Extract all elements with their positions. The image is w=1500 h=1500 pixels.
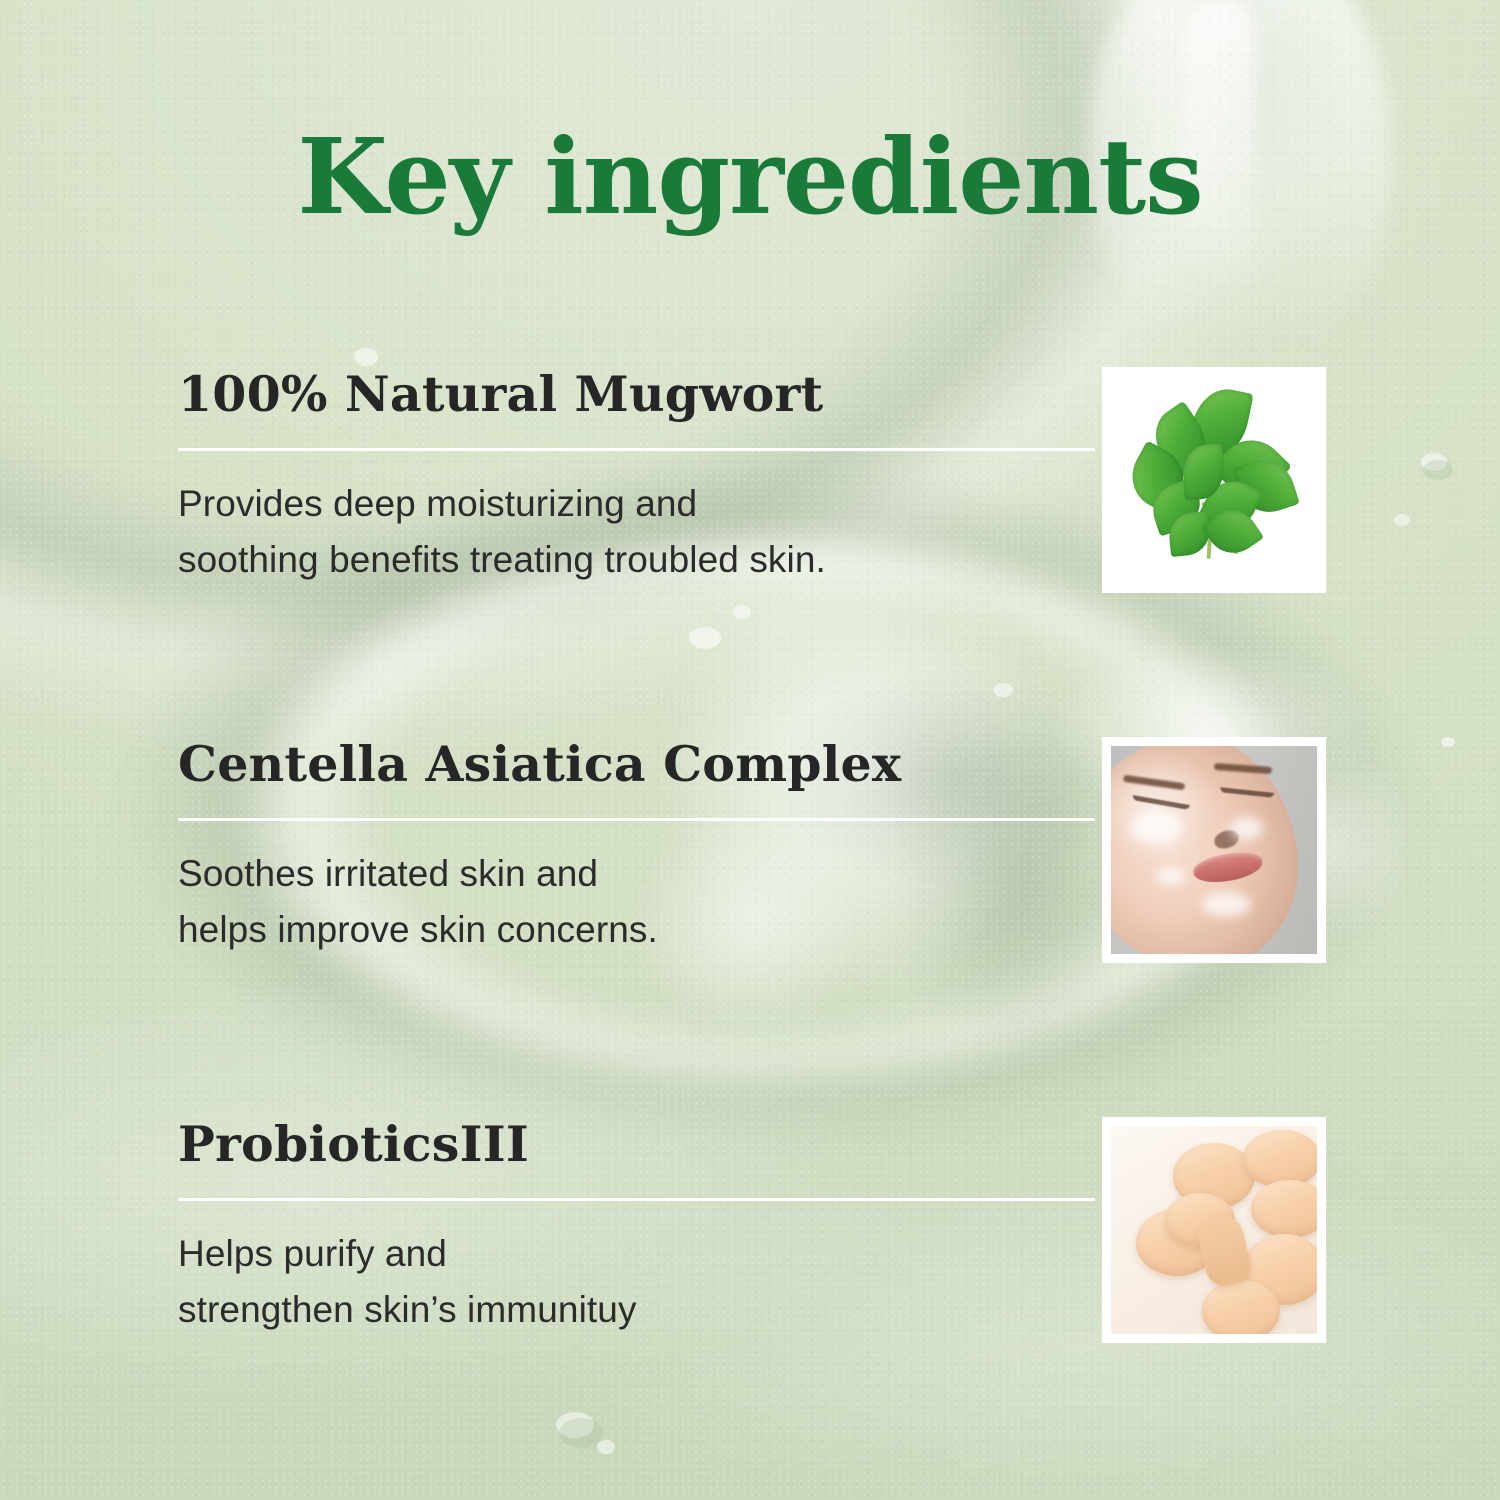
ingredient-description: Soothes irritated skin and helps improve… (178, 846, 1098, 958)
section-divider (178, 1198, 1095, 1201)
description-line-1: Soothes irritated skin and (178, 846, 1098, 902)
ingredient-text-group: 100% Natural Mugwort Provides deep moist… (178, 368, 1098, 588)
section-divider (178, 448, 1095, 451)
ingredient-thumbnail-probiotics (1102, 1117, 1326, 1343)
description-line-2: helps improve skin concerns. (178, 902, 1098, 958)
description-line-2: soothing benefits treating troubled skin… (178, 532, 1098, 588)
ingredient-description: Helps purify and strengthen skin’s immun… (178, 1226, 1098, 1338)
key-ingredients-poster: Key ingredients 100% Natural Mugwort Pro… (0, 0, 1500, 1500)
description-line-1: Helps purify and (178, 1226, 1098, 1282)
description-line-2: strengthen skin’s immunituy (178, 1282, 1098, 1338)
probiotic-tablets-image (1111, 1126, 1317, 1334)
ingredient-thumbnail-mugwort (1102, 367, 1326, 593)
section-divider (178, 818, 1095, 821)
woman-glowing-skin-image (1111, 746, 1317, 954)
page-title: Key ingredients (0, 122, 1500, 231)
ingredient-name: Centella Asiatica Complex (178, 738, 1098, 791)
ingredient-name: 100% Natural Mugwort (178, 368, 1098, 421)
ingredient-text-group: ProbioticsIII Helps purify and strengthe… (178, 1118, 1098, 1338)
ingredient-name: ProbioticsIII (178, 1118, 1098, 1171)
description-line-1: Provides deep moisturizing and (178, 476, 1098, 532)
ingredient-text-group: Centella Asiatica Complex Soothes irrita… (178, 738, 1098, 958)
ingredient-thumbnail-centella (1102, 737, 1326, 963)
ingredient-description: Provides deep moisturizing and soothing … (178, 476, 1098, 588)
mugwort-leaves-image (1111, 376, 1317, 584)
